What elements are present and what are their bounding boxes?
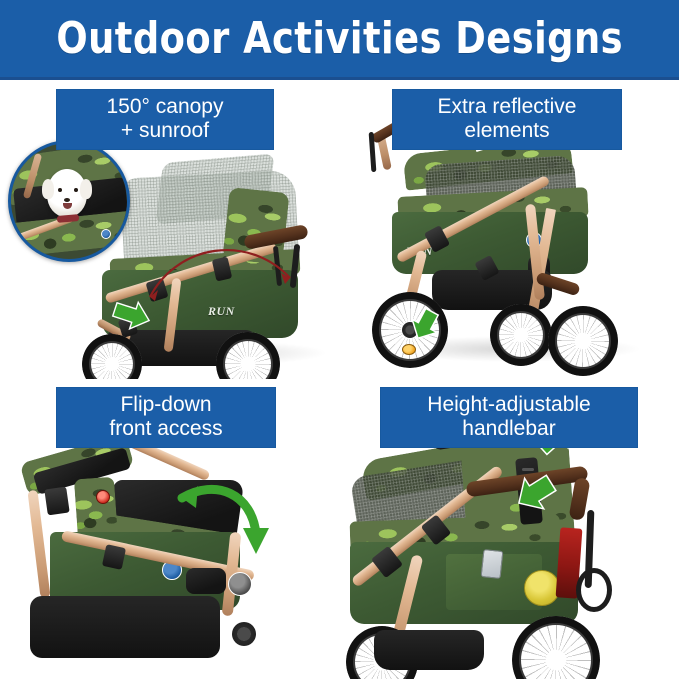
wrist-strap-loop: [576, 568, 612, 612]
feature-grid: RUN: [0, 82, 679, 679]
panel-canopy-label: 150° canopy + sunroof: [56, 89, 274, 150]
height-notch-1: [522, 468, 534, 471]
header-banner: Outdoor Activities Designs: [0, 0, 679, 77]
frame-clamp-upper: [44, 487, 69, 516]
page-title: Outdoor Activities Designs: [56, 13, 623, 64]
red-reflector: [96, 490, 110, 504]
bumper-cap: [228, 572, 252, 596]
panel-front-access-label: Flip-down front access: [56, 387, 276, 448]
rear-wheel: [512, 616, 600, 679]
panel-canopy: RUN: [0, 82, 339, 379]
rear-wheel-hub: [402, 322, 418, 338]
infographic-root: Outdoor Activities Designs RUN: [0, 0, 679, 679]
dog-nose: [64, 198, 70, 202]
panel-reflective: RUN: [340, 82, 679, 379]
panel-reflective-label: Extra reflective elements: [392, 89, 622, 150]
dog-eye-left: [58, 188, 62, 192]
side-pocket: [186, 568, 226, 594]
canopy-detail-inset: [8, 140, 130, 262]
inset-badge: [101, 229, 111, 239]
dog-eye-right: [74, 188, 78, 192]
panel-handlebar-label: Height-adjustable handlebar: [380, 387, 638, 448]
dog-ear-left: [42, 179, 54, 199]
wheel-reflector: [402, 344, 416, 355]
panel-front-access: Flip-down front access: [0, 382, 339, 679]
brand-logo-text: RUN: [208, 304, 235, 319]
storage-basket: [374, 630, 484, 670]
storage-basket: [30, 596, 220, 658]
frisbee-accessory: [524, 570, 560, 606]
dog-ear-right: [80, 179, 92, 199]
header-divider: [0, 77, 679, 80]
panel-handlebar: RUN: [340, 382, 679, 679]
rear-wheel-right: [490, 304, 552, 366]
height-notch-4: [522, 498, 534, 501]
wheel-mount: [232, 622, 256, 646]
phone-in-pocket: [481, 549, 504, 579]
front-wheel: [548, 306, 618, 376]
